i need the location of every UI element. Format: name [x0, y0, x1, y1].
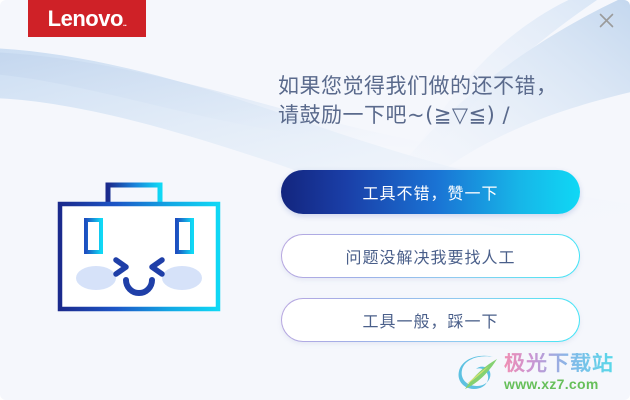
close-button[interactable]	[592, 6, 620, 34]
lenovo-logo: Lenovo..	[28, 0, 146, 37]
close-icon	[599, 13, 614, 28]
feedback-dialog: Lenovo.. 如果您觉得我们做的还不错， 请鼓励一下吧~(≧▽≦) /	[0, 0, 630, 400]
praise-button[interactable]: 工具不错，赞一下	[281, 170, 580, 214]
watermark-site-url: www.xz7.com	[504, 377, 614, 391]
downvote-button-label: 工具一般，踩一下	[362, 308, 498, 332]
contact-support-button[interactable]: 问题没解决我要找人工	[281, 234, 580, 278]
smiling-briefcase-icon	[46, 160, 236, 335]
contact-support-button-label: 问题没解决我要找人工	[345, 244, 515, 268]
praise-button-label: 工具不错，赞一下	[362, 180, 498, 204]
downvote-button[interactable]: 工具一般，踩一下	[281, 298, 580, 342]
page-title: 如果您觉得我们做的还不错， 请鼓励一下吧~(≧▽≦) /	[278, 72, 608, 130]
watermark-site-name: 极光下载站	[504, 353, 614, 374]
site-watermark: 极光下载站 www.xz7.com	[456, 348, 622, 396]
watermark-swoosh-icon	[456, 351, 502, 393]
lenovo-wordmark: Lenovo..	[48, 8, 127, 30]
